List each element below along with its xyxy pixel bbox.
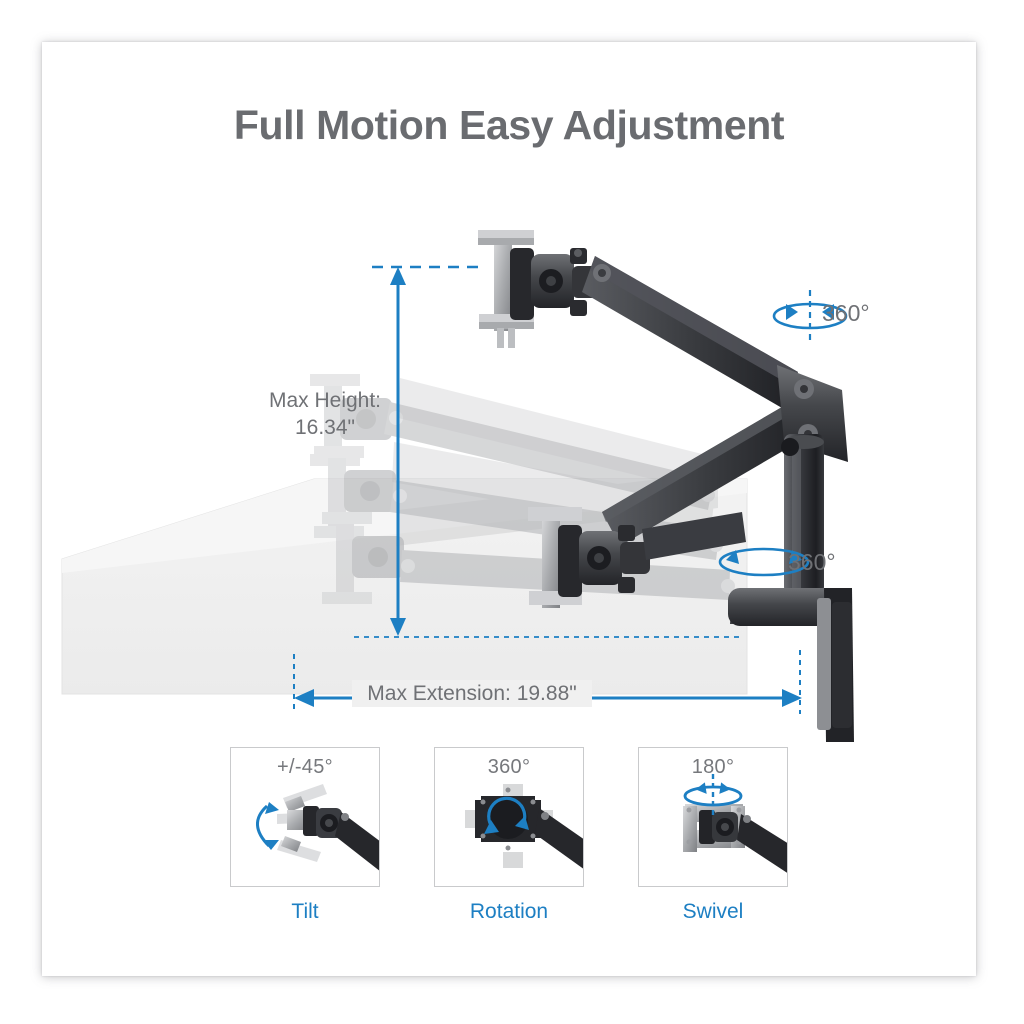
feature-panel-row: +/-45°: [42, 747, 976, 937]
infographic-card: Full Motion Easy Adjustment: [42, 42, 976, 976]
feature-rotation-image: 360°: [434, 747, 584, 887]
rotation-callout-lower-label: 360°: [788, 549, 836, 576]
feature-rotation[interactable]: 360°: [433, 747, 585, 937]
max-height-label: Max Height: 16.34": [250, 387, 400, 441]
gas-spring-upper-arm: [582, 256, 799, 408]
tilt-bracket-icon: [231, 748, 380, 887]
feature-swivel-image: 180°: [638, 747, 788, 887]
vesa-plate-rotation-icon: [435, 748, 584, 887]
feature-tilt[interactable]: +/-45°: [229, 747, 381, 937]
max-extension-label: Max Extension: 19.88": [352, 680, 592, 707]
feature-tilt-caption: Tilt: [291, 900, 318, 924]
feature-swivel[interactable]: 180°: [637, 747, 789, 937]
rotation-callout-upper-label: 360°: [822, 300, 870, 327]
feature-swivel-caption: Swivel: [683, 900, 744, 924]
feature-rotation-caption: Rotation: [470, 900, 548, 924]
feature-tilt-image: +/-45°: [230, 747, 380, 887]
swivel-bracket-icon: [639, 748, 788, 887]
